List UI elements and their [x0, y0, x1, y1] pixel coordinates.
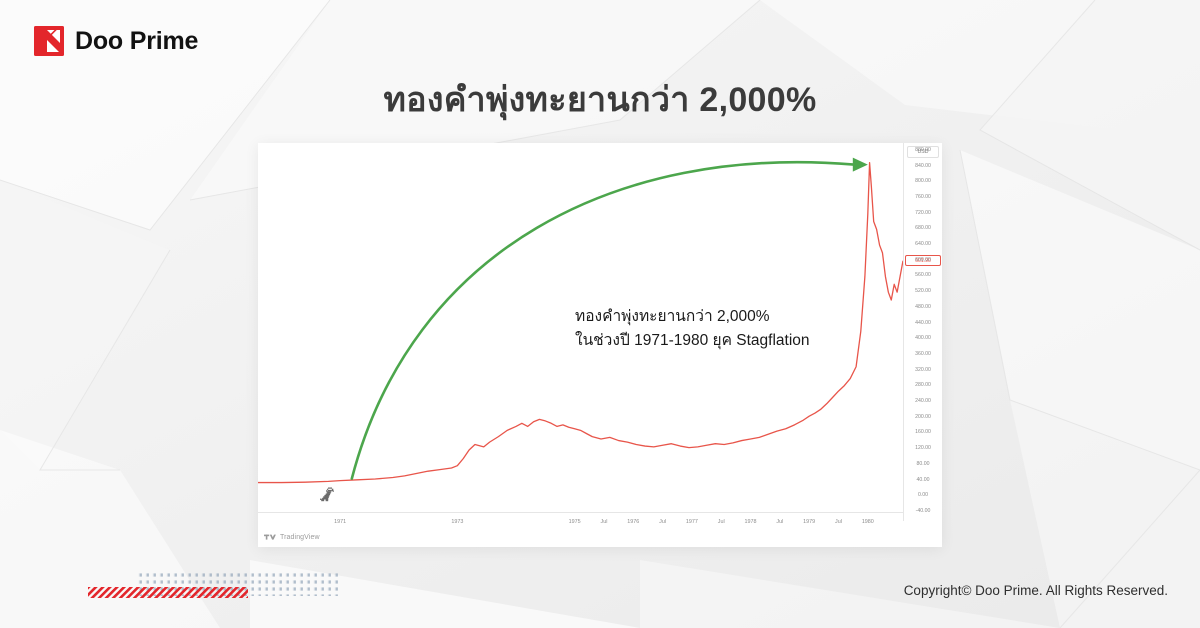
copyright-text: Copyright© Doo Prime. All Rights Reserve… — [904, 583, 1168, 598]
price-axis-tick: 720.00 — [904, 211, 942, 216]
price-axis-tick: 600.00 — [904, 258, 942, 263]
price-axis-tick: -40.00 — [904, 509, 942, 514]
price-axis-tick: 680.00 — [904, 226, 942, 231]
time-axis-tick: Jul — [718, 519, 725, 525]
price-axis-tick: 480.00 — [904, 305, 942, 310]
time-axis-tick: 1971 — [334, 519, 346, 525]
page-title: ทองคำพุ่งทะยานกว่า 2,000% — [0, 72, 1200, 126]
price-axis-tick: 560.00 — [904, 273, 942, 278]
price-axis-tick: 200.00 — [904, 415, 942, 420]
price-axis-tick: 0.00 — [904, 493, 942, 498]
price-axis[interactable]: USD 601.90 880.00840.00800.00760.00720.0… — [903, 143, 942, 521]
time-axis-tick: 1976 — [627, 519, 639, 525]
time-axis-tick: Jul — [835, 519, 842, 525]
brand-logo: Doo Prime — [34, 26, 198, 56]
annotation-line-2: ในช่วงปี 1971-1980 ยุค Stagflation — [575, 329, 810, 353]
price-axis-tick: 800.00 — [904, 179, 942, 184]
time-axis[interactable]: 197119731975Jul1976Jul1977Jul1978Jul1979… — [258, 512, 903, 532]
tradingview-attribution[interactable]: TradingView — [264, 528, 320, 546]
doo-prime-mark-icon — [34, 26, 64, 56]
time-axis-tick: Jul — [601, 519, 608, 525]
price-axis-tick: 640.00 — [904, 242, 942, 247]
dinosaur-icon — [320, 487, 337, 507]
price-axis-tick: 240.00 — [904, 399, 942, 404]
price-axis-tick: 160.00 — [904, 430, 942, 435]
price-axis-tick: 40.00 — [904, 478, 942, 483]
price-axis-tick: 880.00 — [904, 148, 942, 153]
price-axis-tick: 840.00 — [904, 164, 942, 169]
chart-annotation: ทองคำพุ่งทะยานกว่า 2,000% ในช่วงปี 1971-… — [575, 305, 810, 353]
time-axis-tick: 1977 — [686, 519, 698, 525]
tradingview-logo-icon — [264, 528, 276, 546]
price-axis-tick: 520.00 — [904, 289, 942, 294]
time-axis-tick: Jul — [659, 519, 666, 525]
price-axis-tick: 80.00 — [904, 462, 942, 467]
price-axis-tick: 760.00 — [904, 195, 942, 200]
price-axis-tick: 120.00 — [904, 446, 942, 451]
price-axis-tick: 400.00 — [904, 336, 942, 341]
price-axis-tick: 280.00 — [904, 383, 942, 388]
time-axis-tick: 1978 — [745, 519, 757, 525]
time-axis-tick: 1975 — [569, 519, 581, 525]
price-axis-tick: 360.00 — [904, 352, 942, 357]
time-axis-tick: Jul — [776, 519, 783, 525]
tradingview-label: TradingView — [280, 534, 320, 541]
brand-name: Doo Prime — [75, 27, 198, 56]
decorative-pattern — [88, 572, 338, 606]
time-axis-tick: 1979 — [803, 519, 815, 525]
price-axis-tick: 320.00 — [904, 368, 942, 373]
time-axis-tick: 1973 — [451, 519, 463, 525]
price-axis-tick: 440.00 — [904, 321, 942, 326]
annotation-line-1: ทองคำพุ่งทะยานกว่า 2,000% — [575, 305, 810, 329]
time-axis-tick: 1980 — [862, 519, 874, 525]
